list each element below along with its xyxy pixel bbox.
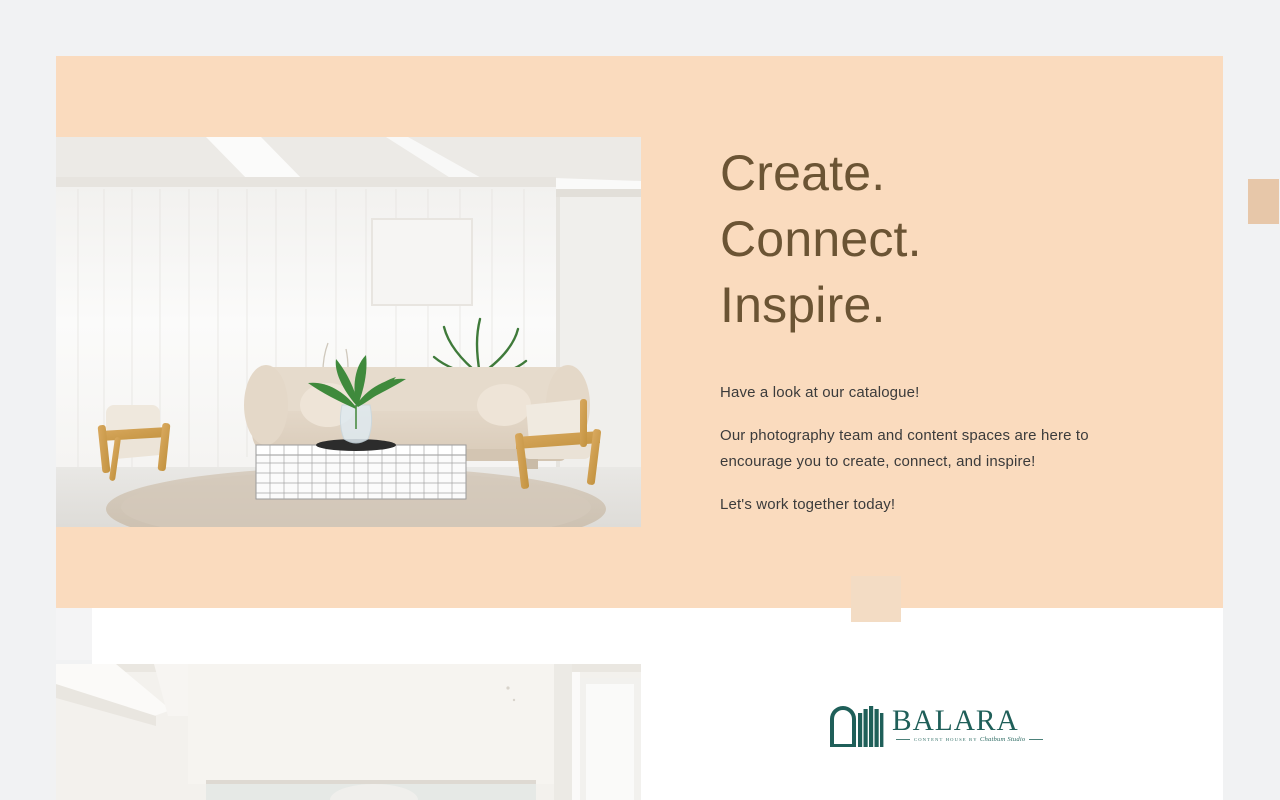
hero-paragraph-3: Let's work together today! [720, 492, 1120, 518]
tagline-rule-right [1029, 739, 1043, 740]
white-room-illustration [56, 664, 641, 800]
hero-text-column: Create. Connect. Inspire. Have a look at… [720, 140, 1140, 518]
hero-body-copy: Have a look at our catalogue! Our photog… [720, 380, 1120, 518]
logo-tagline-prefix: CONTENT HOUSE BY [914, 737, 978, 742]
arch-bars-icon [828, 699, 884, 749]
living-room-illustration [56, 137, 641, 527]
hero-paragraph-2: Our photography team and content spaces … [720, 423, 1120, 475]
logo-tagline-row: CONTENT HOUSE BY Chatbum Studio [892, 736, 1088, 743]
logo-wordmark-text: BALARA [892, 705, 1019, 735]
brand-logo[interactable]: BALARA CONTENT HOUSE BY Chatbum Studio [828, 696, 1032, 752]
page-title: Create. Connect. Inspire. [720, 140, 1140, 338]
hero-paragraph-1: Have a look at our catalogue! [720, 380, 1120, 406]
logo-tagline: CONTENT HOUSE BY Chatbum Studio [914, 736, 1025, 743]
decorative-grey-notch [56, 608, 92, 660]
logo-typography: BALARA CONTENT HOUSE BY Chatbum Studio [892, 705, 1088, 743]
secondary-photo [56, 664, 641, 800]
decorative-swatch-middle [851, 576, 901, 622]
logo-wordmark: BALARA [892, 705, 1088, 735]
decorative-swatch-right [1248, 179, 1279, 224]
logo-tagline-script: Chatbum Studio [980, 736, 1025, 743]
tagline-rule-left [896, 739, 910, 740]
hero-photo [56, 137, 641, 527]
page-root: Create. Connect. Inspire. Have a look at… [0, 0, 1280, 800]
